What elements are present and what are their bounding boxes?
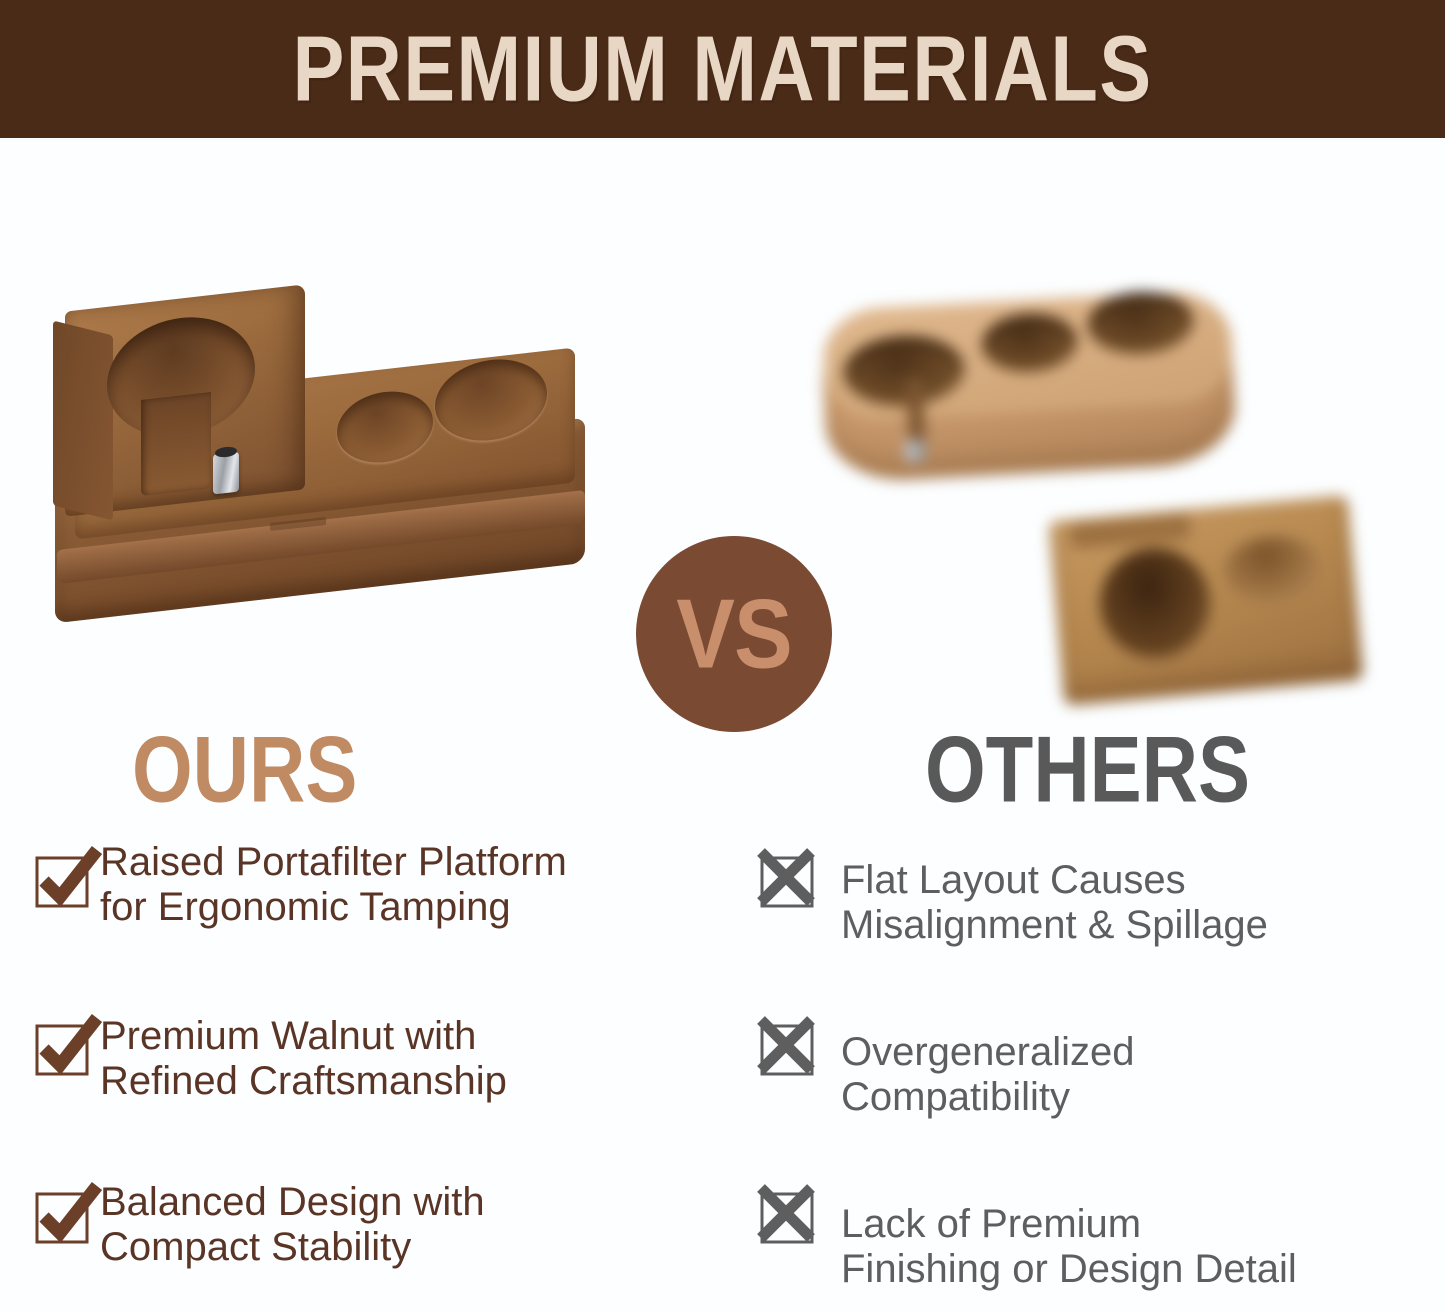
checkbox-cross-icon: [759, 1184, 821, 1246]
vs-label: VS: [676, 577, 791, 691]
others-product-image: [800, 218, 1420, 698]
ours-feature-text-2: Premium Walnut with Refined Craftsmanshi…: [100, 1014, 507, 1104]
others-feature-row-1: Flat Layout Causes Misalignment & Spilla…: [745, 840, 1445, 958]
ours-column: OURS Raised Portafilter Platform for Erg…: [10, 700, 710, 1313]
checkbox-check-icon: [34, 1184, 96, 1246]
ours-feature-list: Raised Portafilter Platform for Ergonomi…: [10, 840, 710, 1313]
metal-pin: [213, 452, 239, 495]
others-feature-text-3: Lack of Premium Finishing or Design Deta…: [841, 1202, 1297, 1292]
ours-feature-row-1: Raised Portafilter Platform for Ergonomi…: [10, 840, 710, 958]
ours-feature-text-1: Raised Portafilter Platform for Ergonomi…: [100, 840, 567, 930]
others-feature-row-3: Lack of Premium Finishing or Design Deta…: [745, 1176, 1445, 1294]
ours-feature-text-3: Balanced Design with Compact Stability: [100, 1180, 485, 1270]
ours-product-image: [45, 288, 605, 618]
ours-feature-row-2: Premium Walnut with Refined Craftsmanshi…: [10, 1008, 710, 1126]
product-imagery-zone: VS: [0, 138, 1445, 698]
others-heading: OTHERS: [925, 715, 1250, 824]
checkbox-cross-icon: [759, 848, 821, 910]
comparison-infographic-page: PREMIUM MATERIALS VS: [0, 0, 1445, 1313]
flat-bar-pin: [904, 439, 925, 462]
others-feature-text-1: Flat Layout Causes Misalignment & Spilla…: [841, 858, 1268, 948]
ours-feature-row-3: Balanced Design with Compact Stability: [10, 1176, 710, 1294]
portafilter-spout-slot: [141, 392, 211, 496]
tower-left-face: [53, 321, 113, 521]
checkbox-cross-icon: [759, 1016, 821, 1078]
others-column: OTHERS Flat Layout Causes Misalignment &…: [745, 700, 1445, 1313]
checkbox-check-icon: [34, 1016, 96, 1078]
page-title: PREMIUM MATERIALS: [292, 16, 1152, 122]
header-banner: PREMIUM MATERIALS: [0, 0, 1445, 138]
others-feature-list: Flat Layout Causes Misalignment & Spilla…: [745, 840, 1445, 1313]
ours-heading: OURS: [132, 715, 357, 824]
checkbox-check-icon: [34, 848, 96, 910]
others-feature-row-2: Overgeneralized Compatibility: [745, 1008, 1445, 1126]
others-feature-text-2: Overgeneralized Compatibility: [841, 1030, 1135, 1120]
comparison-section: OURS Raised Portafilter Platform for Erg…: [0, 700, 1445, 1313]
